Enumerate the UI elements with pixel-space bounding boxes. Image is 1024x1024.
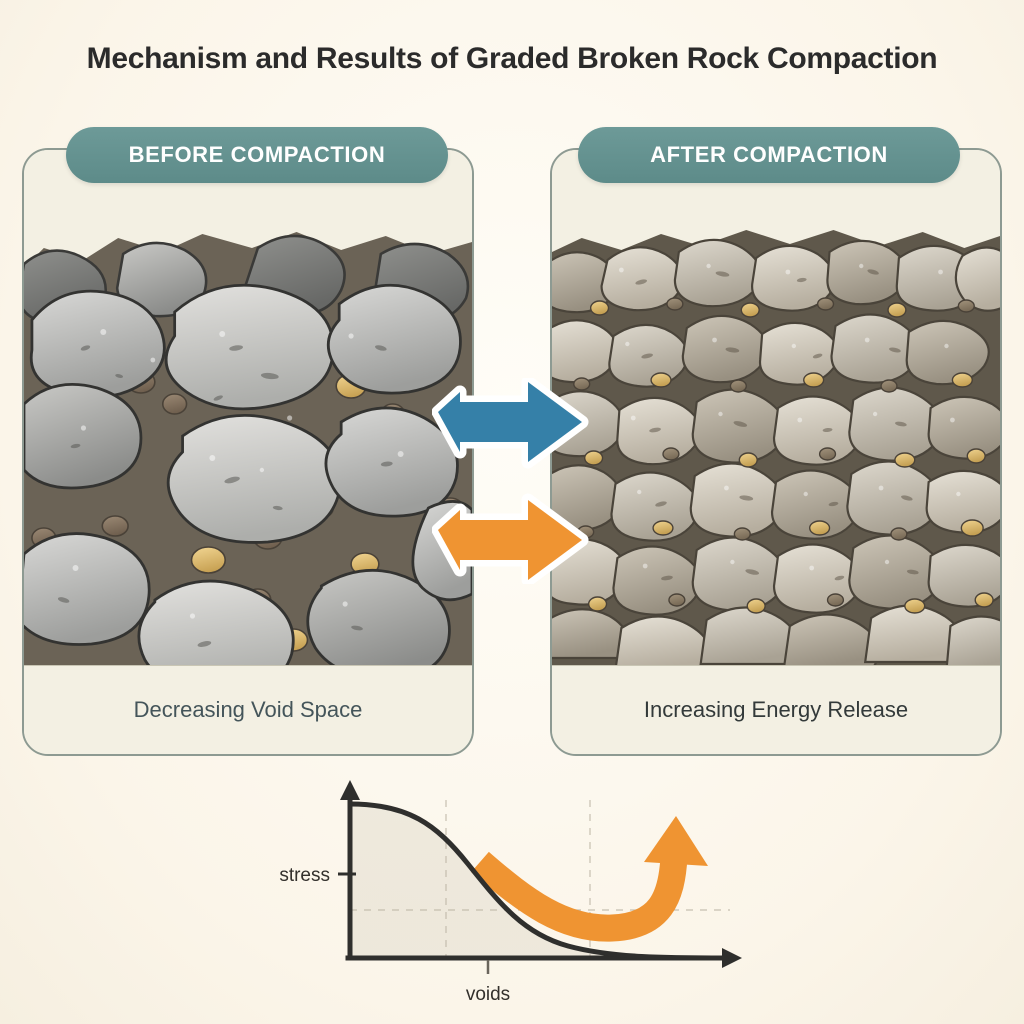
transition-arrow-top-icon <box>438 382 582 462</box>
energy-release-arrow-icon <box>480 816 708 928</box>
panel-after-compaction: Increasing Energy Release <box>550 148 1002 756</box>
rock-illustration-after <box>552 208 1000 670</box>
caption-text-after: Increasing Energy Release <box>644 697 908 723</box>
chart-xlabel: voids <box>466 984 510 1005</box>
panel-before-compaction: Decreasing Void Space <box>22 148 474 756</box>
badge-before-compaction: BEFORE COMPACTION <box>66 127 448 183</box>
panel-caption-after: Increasing Energy Release <box>552 665 1000 754</box>
badge-label-before: BEFORE COMPACTION <box>129 142 386 168</box>
stress-voids-chart: stress voids <box>268 778 758 1016</box>
panel-caption-before: Decreasing Void Space <box>24 665 472 754</box>
page-title: Mechanism and Results of Graded Broken R… <box>0 42 1024 76</box>
transition-arrow-bottom-icon <box>438 500 582 580</box>
chart-ylabel: stress <box>279 865 330 886</box>
badge-label-after: AFTER COMPACTION <box>650 142 888 168</box>
caption-text-before: Decreasing Void Space <box>134 697 363 723</box>
diagram-canvas: Mechanism and Results of Graded Broken R… <box>0 0 1024 1024</box>
center-transition-arrows <box>432 378 598 584</box>
badge-after-compaction: AFTER COMPACTION <box>578 127 960 183</box>
rock-illustration-before <box>24 208 472 670</box>
